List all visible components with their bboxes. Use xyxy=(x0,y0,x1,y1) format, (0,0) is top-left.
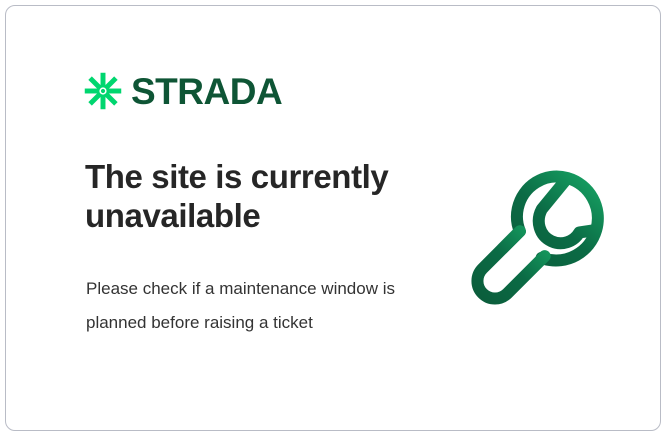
wrench-icon xyxy=(461,158,621,318)
page-description: Please check if a maintenance window is … xyxy=(86,272,396,340)
brand-logo-lockup: STRADA xyxy=(84,72,282,110)
status-card: STRADA The site is currently unavailable… xyxy=(5,5,661,431)
page-title: The site is currently unavailable xyxy=(85,158,425,235)
strada-asterisk-logo-icon xyxy=(84,72,122,110)
error-page: STRADA The site is currently unavailable… xyxy=(0,0,666,436)
brand-wordmark: STRADA xyxy=(131,73,282,110)
